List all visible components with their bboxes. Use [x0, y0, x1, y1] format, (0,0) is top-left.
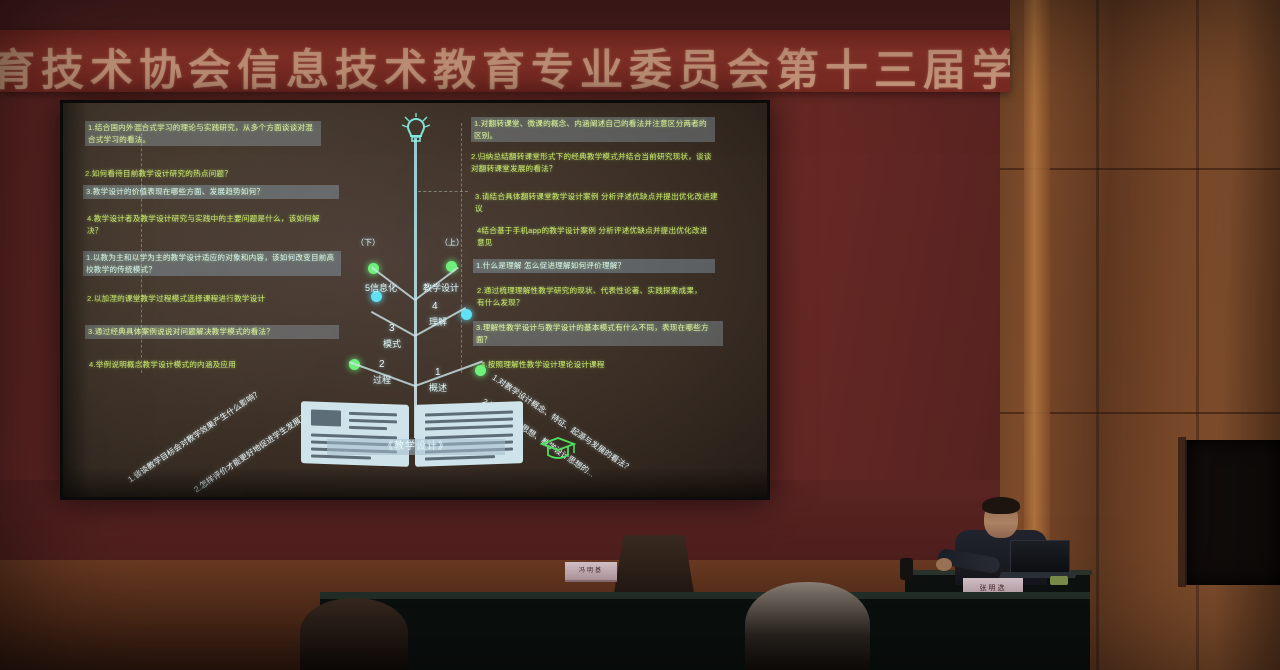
book-title: 《教学设计》: [327, 439, 505, 455]
wood-seam: [1096, 0, 1099, 670]
tree-branch-4-label: 理解: [429, 315, 447, 328]
slide-right-item-8: 4.按照理解性教学设计理论设计课程: [481, 359, 709, 371]
guide-line: [418, 191, 468, 192]
presenter-hair: [982, 497, 1020, 514]
slide-left-item-7: 3.通过经典具体案例说说对问题解决教学模式的看法？: [85, 325, 339, 339]
slide-right-item-6: 2.通过梳理理解性教学研究的现状、代表性论著、实践探索成果，有什么发现？: [477, 285, 709, 308]
slide-right-item-3: 3.请结合具体翻转课堂教学设计案例 分析评述优缺点并提出优化改进建议: [475, 191, 719, 214]
tree-branch-2-num: 2: [379, 359, 385, 370]
front-table: [320, 592, 1090, 670]
tree-node-1: [475, 365, 486, 376]
tree-branch-3-label: 模式: [383, 337, 401, 350]
water-bottle: [900, 558, 913, 580]
projection-screen: 1.结合国内外混合式学习的理论与实践研究，从多个方面谈谈对混合式学习的看法。 2…: [63, 103, 767, 497]
slide-left-item-5: 1.以教为主和以学为主的教学设计适应的对象和内容，该如何改变目前高校教学的传统模…: [83, 251, 341, 276]
lecture-hall-photo: 育技术协会信息技术教育专业委员会第十三届学术年会 1.结合国内外混合式学习的理论…: [0, 0, 1280, 670]
tree-branch-4-num: 4: [432, 301, 438, 312]
slide-left-item-1: 1.结合国内外混合式学习的理论与实践研究，从多个方面谈谈对混合式学习的看法。: [85, 121, 321, 146]
slide-right-item-4: 4结合基于手机app的教学设计案例 分析评述优缺点并提出优化改进意见: [477, 225, 715, 248]
audience-head: [300, 598, 408, 670]
banner-title: 育技术协会信息技术教育专业委员会第十三届学术年会: [0, 36, 1010, 92]
slide-right-item-1: 1.对翻转课堂、微课的概念、内涵阐述自己的看法并注意区分两者的区别。: [471, 117, 715, 142]
tree-caption-right: 教学设计: [423, 281, 459, 294]
slide-right-item-7: 3.理解性教学设计与教学设计的基本模式有什么不同，表现在哪些方面？: [473, 321, 723, 346]
tree-label-down: （下）: [356, 237, 380, 248]
tree-caption-left: 5信息化: [365, 281, 397, 294]
screen-shadow: [63, 103, 89, 497]
monitor-rear: [614, 535, 694, 593]
tree-branch-3-num: 3: [389, 323, 395, 334]
tree-branch-1-num: 1: [435, 367, 441, 378]
tree-label-up: （上）: [440, 237, 464, 248]
conference-banner: 育技术协会信息技术教育专业委员会第十三届学术年会: [0, 30, 1010, 92]
slide-left-item-4: 4.教学设计者及教学设计研究与实践中的主要问题是什么，该如何解决？: [87, 213, 325, 236]
table-nameplate: 冯明基: [565, 562, 617, 582]
slide-left-item-3: 3.教学设计的价值表现在哪些方面、发展趋势如何？: [83, 185, 339, 199]
guide-line: [461, 123, 462, 373]
front-table-top: [320, 592, 1090, 599]
book-page-right: [415, 401, 523, 467]
tree-trunk: [414, 138, 417, 438]
slide-right-item-5: 1.什么是理解 怎么促进理解如何评价理解？: [473, 259, 715, 273]
book-page-left: [301, 401, 409, 467]
wood-pillar: [1024, 0, 1050, 560]
tree-branch: [415, 360, 483, 387]
wall-display: [1185, 440, 1280, 585]
slide-left-item-2: 2.如何看待目前教学设计研究的热点问题？: [85, 168, 321, 180]
audience-head: [745, 582, 870, 670]
presenter-hand: [936, 558, 952, 571]
banner-backdrop: [0, 0, 1010, 30]
laptop-screen: [1010, 540, 1070, 576]
tree-branch-2-label: 过程: [373, 373, 391, 386]
tree-branch-1-label: 概述: [429, 381, 447, 394]
slide-right-item-2: 2.归纳总结翻转课堂形式下的经典教学模式并结合当前研究现状，谈谈对翻转课堂发展的…: [471, 151, 717, 174]
guide-line: [141, 123, 142, 373]
desk-object: [1050, 576, 1068, 585]
screen-shadow: [63, 467, 767, 497]
slide-left-item-6: 2.以加涅的课堂教学过程模式选择课程进行教学设计: [87, 293, 323, 305]
graduation-cap-icon: [540, 435, 576, 465]
slide-left-item-8: 4.举例说明概念教学设计模式的内涵及应用: [89, 359, 329, 371]
